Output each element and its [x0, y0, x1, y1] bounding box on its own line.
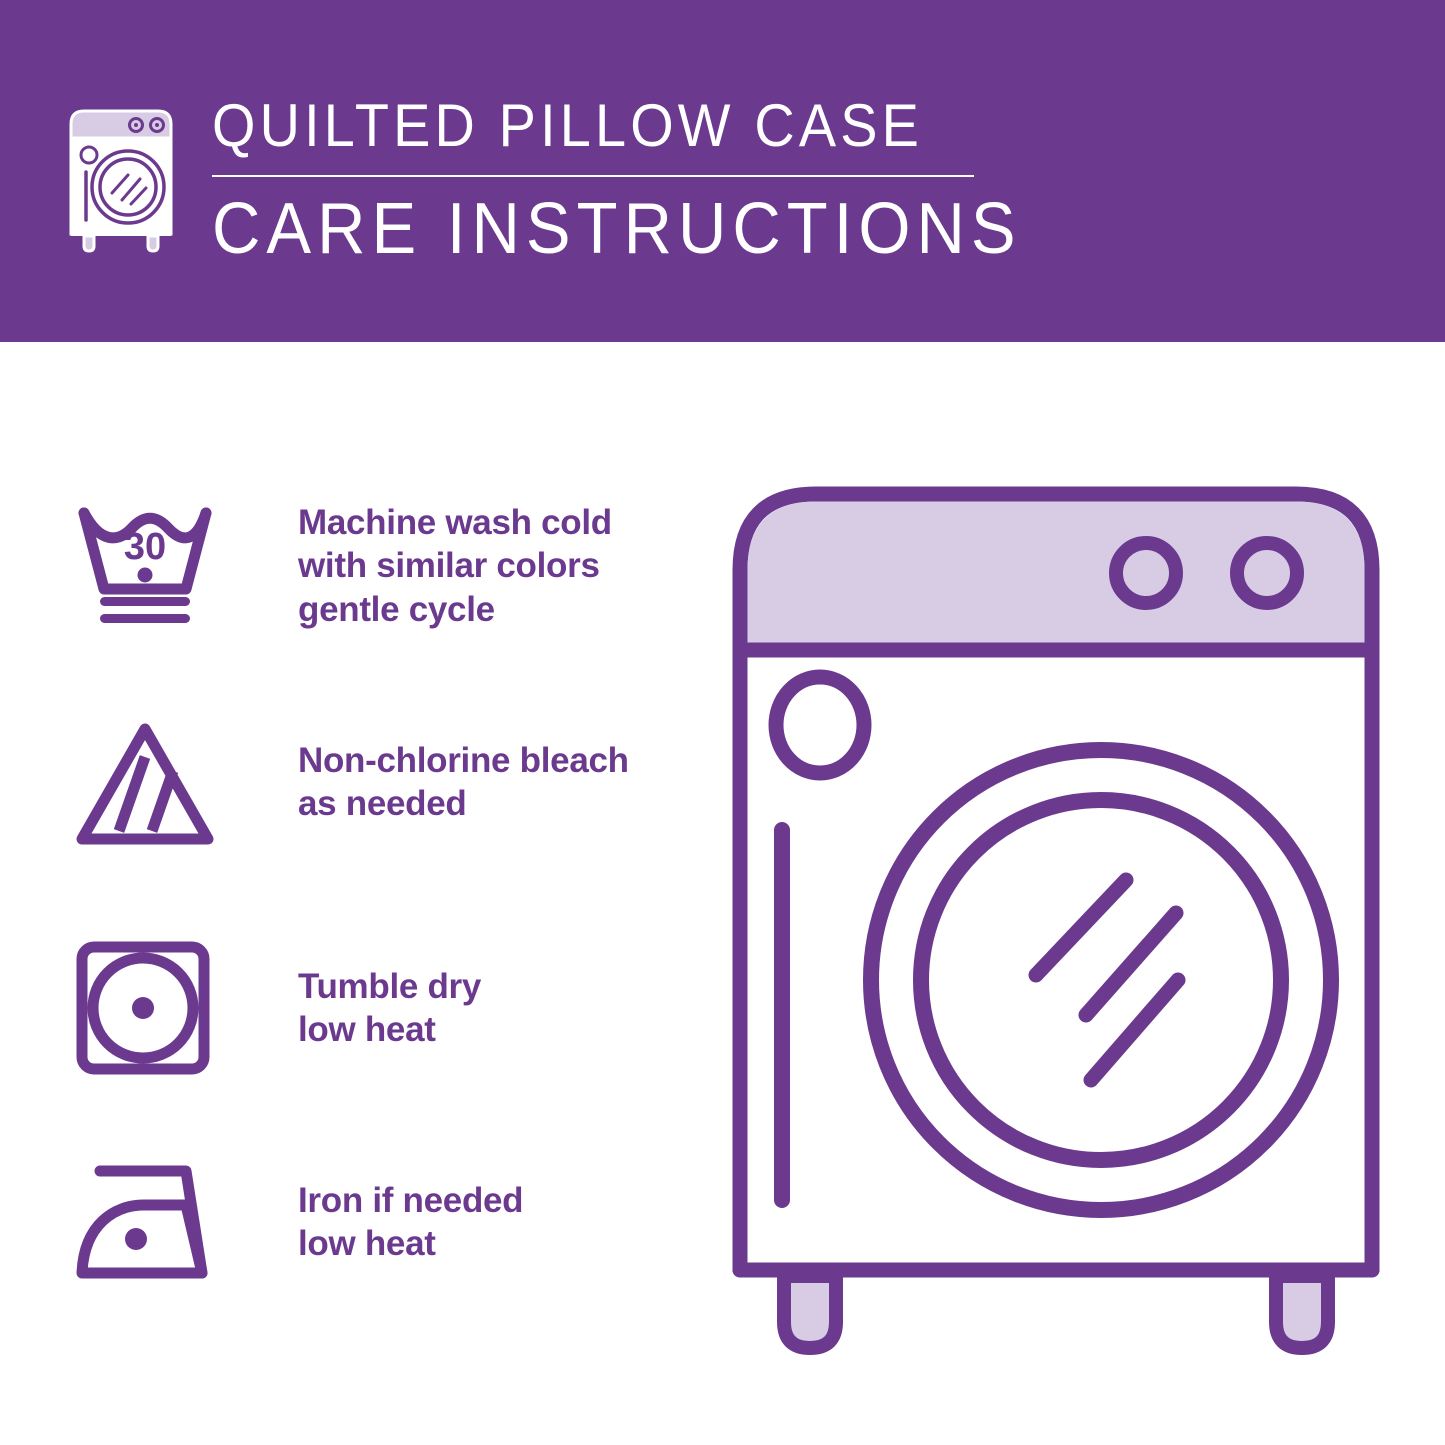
care-instruction-text: Non-chlorine bleach as needed [298, 717, 629, 826]
care-instruction-text: Iron if needed low heat [298, 1155, 523, 1266]
care-instruction-text: Machine wash cold with similar colors ge… [298, 497, 612, 631]
care-instruction-list: 30 Machine wash cold with similar colors… [0, 342, 700, 1445]
non-chlorine-bleach-icon [70, 717, 220, 857]
wash-temperature-label: 30 [124, 526, 166, 568]
care-row: Iron if needed low heat [70, 1155, 523, 1295]
header-banner: QUILTED PILLOW CASE CARE INSTRUCTIONS [0, 0, 1445, 342]
care-row: Non-chlorine bleach as needed [70, 717, 629, 857]
header-title-block: QUILTED PILLOW CASE CARE INSTRUCTIONS [212, 96, 1012, 265]
iron-low-heat-icon [70, 1155, 220, 1295]
washing-machine-illustration [726, 480, 1386, 1370]
product-title: QUILTED PILLOW CASE [212, 96, 956, 156]
washing-machine-icon [62, 100, 184, 258]
care-row: Tumble dry low heat [70, 937, 481, 1077]
machine-wash-30-gentle-icon: 30 [70, 497, 220, 637]
care-instruction-text: Tumble dry low heat [298, 937, 481, 1052]
care-row: 30 Machine wash cold with similar colors… [70, 497, 612, 637]
tumble-dry-low-heat-icon [70, 937, 220, 1077]
title-divider [212, 175, 974, 177]
machine-leg [784, 1276, 836, 1348]
page-title: CARE INSTRUCTIONS [212, 193, 956, 265]
machine-knob [1116, 543, 1176, 603]
care-instructions-infographic: QUILTED PILLOW CASE CARE INSTRUCTIONS 30 [0, 0, 1445, 1445]
machine-knob [1237, 543, 1297, 603]
machine-leg [1276, 1276, 1328, 1348]
